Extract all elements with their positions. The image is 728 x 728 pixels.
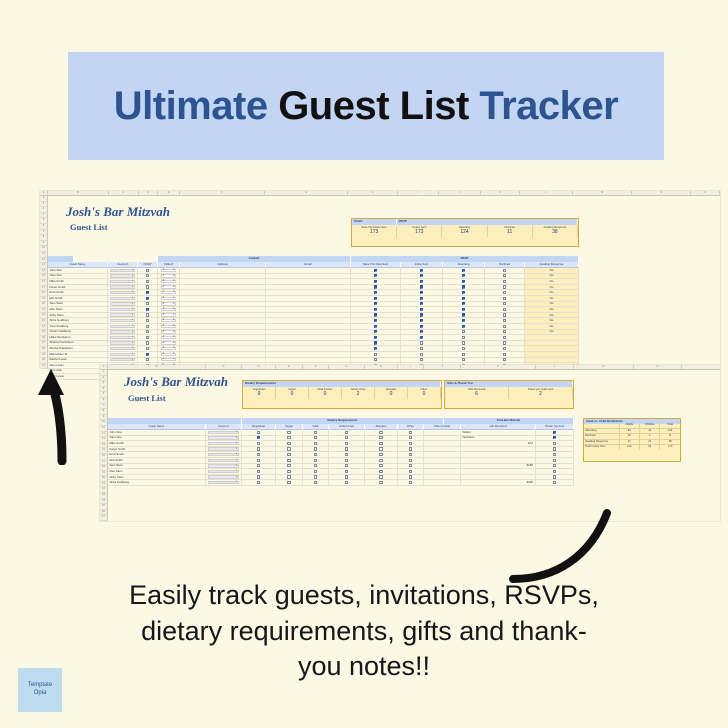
cell-allergies[interactable] [365, 458, 398, 463]
column-header-H[interactable]: H [348, 191, 397, 195]
declined-checkbox[interactable] [503, 308, 506, 311]
child-checkbox[interactable] [146, 291, 149, 294]
cell-vegan[interactable] [276, 469, 303, 474]
cell-email[interactable] [266, 307, 351, 312]
cell-child[interactable] [138, 341, 158, 346]
child-checkbox[interactable] [146, 325, 149, 328]
invite-sent-checkbox[interactable] [420, 341, 423, 344]
cell-vegetarian[interactable] [242, 480, 276, 485]
vegetarian-checkbox[interactable] [257, 447, 260, 450]
cell-table-number[interactable]: 2▾ [158, 290, 180, 295]
table-number-select[interactable]: 4▾ [161, 336, 177, 339]
cell-declined[interactable] [485, 290, 525, 295]
cell-guest-name[interactable]: Rachel Lewis [48, 358, 108, 363]
guest-of-dropdown[interactable]: ▾ [110, 285, 136, 288]
cell-invite-sent[interactable] [401, 285, 443, 290]
cell-address[interactable] [180, 307, 266, 312]
cell-gluten-free[interactable] [329, 464, 365, 469]
cell-allergies[interactable] [365, 441, 398, 446]
cell-declined[interactable] [485, 307, 525, 312]
cell-guest-of[interactable]: ▾ [108, 268, 138, 273]
declined-checkbox[interactable] [503, 297, 506, 300]
attending-checkbox[interactable] [462, 336, 465, 339]
cell-vegetarian[interactable] [242, 430, 276, 435]
cell-email[interactable] [266, 330, 351, 335]
cell-declined[interactable] [485, 296, 525, 301]
cell-vegan[interactable] [276, 436, 303, 441]
guest-of-dropdown[interactable]: ▾ [208, 481, 239, 484]
column-header-J[interactable]: J [439, 191, 480, 195]
cell-guest-name[interactable]: Jane Doe [48, 274, 108, 279]
cell-child[interactable] [138, 279, 158, 284]
guest-of-dropdown[interactable]: ▾ [208, 447, 239, 450]
cell-table-number[interactable]: 4▾ [158, 341, 180, 346]
cell-other[interactable] [398, 430, 424, 435]
cell-guest-of[interactable]: ▾ [108, 274, 138, 279]
cell-thank-you-sent[interactable] [536, 447, 574, 452]
guest-of-dropdown[interactable]: ▾ [208, 442, 239, 445]
gluten-free-checkbox[interactable] [345, 442, 348, 445]
column-header-A[interactable]: A [40, 191, 48, 195]
spreadsheet-guest-list-rsvp[interactable]: ABCDEFGHIJKLMNO 123456789101112131415161… [40, 191, 720, 367]
cell-invite-sent[interactable] [401, 296, 443, 301]
cell-thank-you-sent[interactable] [536, 464, 574, 469]
child-checkbox[interactable] [146, 297, 149, 300]
table-number-select[interactable]: 4▾ [161, 347, 177, 350]
column-header-B[interactable]: B [48, 191, 109, 195]
guest-of-dropdown[interactable]: ▾ [208, 436, 239, 439]
cell-declined[interactable] [485, 335, 525, 340]
cell-gluten-free[interactable] [329, 475, 365, 480]
cell-save-the-date-sent[interactable] [351, 318, 401, 323]
cell-other-notes[interactable] [424, 447, 461, 452]
cell-guest-name[interactable]: Max Stein [108, 469, 206, 474]
table-number-select[interactable]: 2▾ [161, 291, 177, 294]
vegetarian-checkbox[interactable] [257, 431, 260, 434]
child-checkbox[interactable] [146, 336, 149, 339]
cell-address[interactable] [180, 279, 266, 284]
cell-save-the-date-sent[interactable] [351, 274, 401, 279]
cell-table-number[interactable]: 3▾ [158, 324, 180, 329]
attending-checkbox[interactable] [462, 341, 465, 344]
cell-allergies[interactable] [365, 469, 398, 474]
cell-child[interactable] [138, 274, 158, 279]
cell-glatt[interactable] [303, 452, 329, 457]
cell-guest-of[interactable]: ▾ [108, 302, 138, 307]
cell-guest-name[interactable]: Sam Lewis [48, 363, 108, 368]
other-checkbox[interactable] [409, 459, 412, 462]
save-the-date-checkbox[interactable] [374, 347, 377, 350]
cell-gluten-free[interactable] [329, 469, 365, 474]
cell-other[interactable] [398, 475, 424, 480]
cell-guest-name[interactable]: Elle Smith [48, 296, 108, 301]
cell-attending[interactable] [443, 318, 485, 323]
cell-other[interactable] [398, 464, 424, 469]
cell-invite-sent[interactable] [401, 307, 443, 312]
cell-save-the-date-sent[interactable] [351, 296, 401, 301]
table-number-select[interactable]: 3▾ [161, 308, 177, 311]
cell-address[interactable] [180, 290, 266, 295]
child-checkbox[interactable] [146, 347, 149, 350]
cell-guest-of[interactable]: ▾ [108, 346, 138, 351]
cell-thank-you-sent[interactable] [536, 452, 574, 457]
cell-invite-sent[interactable] [401, 302, 443, 307]
cell-table-number[interactable]: 5▾ [158, 358, 180, 363]
attending-checkbox[interactable] [462, 319, 465, 322]
attending-checkbox[interactable] [462, 313, 465, 316]
column-header-M[interactable]: M [574, 365, 634, 369]
invite-sent-checkbox[interactable] [420, 302, 423, 305]
cell-thank-you-sent[interactable] [536, 480, 574, 485]
guest-of-dropdown[interactable]: ▾ [110, 280, 136, 283]
cell-guest-of[interactable]: ▾ [206, 430, 242, 435]
column-header-G[interactable]: G [265, 191, 349, 195]
vegan-checkbox[interactable] [287, 470, 290, 473]
cell-email[interactable] [266, 358, 351, 363]
cell-attending[interactable] [443, 290, 485, 295]
declined-checkbox[interactable] [503, 358, 506, 361]
cell-invite-sent[interactable] [401, 341, 443, 346]
declined-checkbox[interactable] [503, 302, 506, 305]
allergies-checkbox[interactable] [379, 464, 382, 467]
declined-checkbox[interactable] [503, 285, 506, 288]
cell-allergies[interactable] [365, 430, 398, 435]
cell-guest-name[interactable]: Elle Smith [108, 458, 206, 463]
other-checkbox[interactable] [409, 442, 412, 445]
cell-address[interactable] [180, 358, 266, 363]
vegetarian-checkbox[interactable] [257, 481, 260, 484]
cell-guest-name[interactable]: Moshe Nussbaum [48, 346, 108, 351]
cell-thank-you-sent[interactable] [536, 441, 574, 446]
child-checkbox[interactable] [146, 330, 149, 333]
child-checkbox[interactable] [146, 302, 149, 305]
cell-child[interactable] [138, 330, 158, 335]
attending-checkbox[interactable] [462, 302, 465, 305]
cell-gift-received[interactable]: $180 [461, 480, 536, 485]
cell-other-notes[interactable] [424, 458, 461, 463]
column-header-B[interactable]: B [108, 365, 206, 369]
cell-glatt[interactable] [303, 430, 329, 435]
cell-attending[interactable] [443, 296, 485, 301]
table-number-select[interactable]: 4▾ [161, 341, 177, 344]
cell-glatt[interactable] [303, 441, 329, 446]
table-number-select[interactable]: 5▾ [161, 358, 177, 361]
cell-attending[interactable] [443, 274, 485, 279]
cell-allergies[interactable] [365, 464, 398, 469]
child-checkbox[interactable] [146, 308, 149, 311]
guest-of-dropdown[interactable]: ▾ [110, 308, 136, 311]
cell-guest-name[interactable]: Max Stein [48, 307, 108, 312]
cell-gift-received[interactable]: $72 [461, 441, 536, 446]
cell-child[interactable] [138, 268, 158, 273]
cell-vegan[interactable] [276, 458, 303, 463]
column-header-J[interactable]: J [424, 365, 461, 369]
cell-gift-received[interactable]: Necklace [461, 436, 536, 441]
cell-guest-name[interactable]: Abby Stein [108, 475, 206, 480]
cell-invite-sent[interactable] [401, 324, 443, 329]
guest-of-dropdown[interactable]: ▾ [208, 431, 239, 434]
cell-invite-sent[interactable] [401, 358, 443, 363]
cell-save-the-date-sent[interactable] [351, 285, 401, 290]
cell-vegetarian[interactable] [242, 458, 276, 463]
glatt-checkbox[interactable] [314, 442, 317, 445]
cell-gift-received[interactable] [461, 458, 536, 463]
vegetarian-checkbox[interactable] [257, 464, 260, 467]
cell-invite-sent[interactable] [401, 330, 443, 335]
column-header-E[interactable]: E [158, 191, 180, 195]
cell-declined[interactable] [485, 268, 525, 273]
cell-address[interactable] [180, 324, 266, 329]
cell-attending[interactable] [443, 341, 485, 346]
invite-sent-checkbox[interactable] [420, 313, 423, 316]
cell-guest-name[interactable]: Shira Goldberg [48, 318, 108, 323]
cell-save-the-date-sent[interactable] [351, 290, 401, 295]
table-number-select[interactable]: 3▾ [161, 313, 177, 316]
cell-save-the-date-sent[interactable] [351, 358, 401, 363]
invite-sent-checkbox[interactable] [420, 347, 423, 350]
cell-invite-sent[interactable] [401, 268, 443, 273]
cell-guest-of[interactable]: ▾ [108, 307, 138, 312]
cell-vegetarian[interactable] [242, 475, 276, 480]
cell-guest-name[interactable]: Abi Lewis [48, 369, 108, 374]
cell-invite-sent[interactable] [401, 352, 443, 357]
thank-you-checkbox[interactable] [553, 459, 556, 462]
cell-guest-of[interactable]: ▾ [108, 324, 138, 329]
cell-save-the-date-sent[interactable] [351, 302, 401, 307]
cell-save-the-date-sent[interactable] [351, 324, 401, 329]
cell-declined[interactable] [485, 341, 525, 346]
cell-other[interactable] [398, 447, 424, 452]
cell-email[interactable] [266, 335, 351, 340]
cell-attending[interactable] [443, 279, 485, 284]
cell-glatt[interactable] [303, 464, 329, 469]
thank-you-checkbox[interactable] [553, 436, 556, 439]
cell-invite-sent[interactable] [401, 279, 443, 284]
save-the-date-checkbox[interactable] [374, 285, 377, 288]
cell-email[interactable] [266, 324, 351, 329]
other-checkbox[interactable] [409, 431, 412, 434]
child-checkbox[interactable] [146, 319, 149, 322]
declined-checkbox[interactable] [503, 269, 506, 272]
sheet2-data-rows[interactable]: John Doe▾SiddurJane Doe▾NecklaceMike Smi… [108, 430, 574, 486]
vegetarian-checkbox[interactable] [257, 436, 260, 439]
invite-sent-checkbox[interactable] [420, 280, 423, 283]
cell-child[interactable] [138, 290, 158, 295]
cell-address[interactable] [180, 318, 266, 323]
child-checkbox[interactable] [146, 313, 149, 316]
cell-guest-name[interactable]: Tova Goldberg [48, 324, 108, 329]
cell-declined[interactable] [485, 285, 525, 290]
invite-sent-checkbox[interactable] [420, 297, 423, 300]
gluten-free-checkbox[interactable] [345, 481, 348, 484]
cell-guest-of[interactable]: ▾ [206, 480, 242, 485]
cell-vegetarian[interactable] [242, 447, 276, 452]
cell-declined[interactable] [485, 318, 525, 323]
cell-invite-sent[interactable] [401, 335, 443, 340]
cell-guest-name[interactable]: Sam Stein [48, 302, 108, 307]
vegetarian-checkbox[interactable] [257, 459, 260, 462]
cell-gift-received[interactable] [461, 452, 536, 457]
glatt-checkbox[interactable] [314, 475, 317, 478]
save-the-date-checkbox[interactable] [374, 330, 377, 333]
thank-you-checkbox[interactable] [553, 481, 556, 484]
save-the-date-checkbox[interactable] [374, 313, 377, 316]
cell-allergies[interactable] [365, 480, 398, 485]
cell-attending[interactable] [443, 302, 485, 307]
cell-gift-received[interactable]: Siddur [461, 430, 536, 435]
sheet2-body[interactable]: Josh's Bar Mitzvah Guest List Dietary Re… [108, 370, 720, 521]
table-number-select[interactable]: 2▾ [161, 280, 177, 283]
save-the-date-checkbox[interactable] [374, 358, 377, 361]
cell-allergies[interactable] [365, 475, 398, 480]
thank-you-checkbox[interactable] [553, 464, 556, 467]
child-checkbox[interactable] [146, 269, 149, 272]
cell-gluten-free[interactable] [329, 436, 365, 441]
guest-of-dropdown[interactable]: ▾ [110, 269, 136, 272]
cell-thank-you-sent[interactable] [536, 430, 574, 435]
allergies-checkbox[interactable] [379, 436, 382, 439]
thank-you-checkbox[interactable] [553, 453, 556, 456]
sheet1-body[interactable]: Josh's Bar Mitzvah Guest List Totals RSV… [48, 196, 720, 367]
row-number[interactable]: 27 [100, 515, 108, 521]
cell-guest-name[interactable]: Karen Smith [48, 285, 108, 290]
invite-sent-checkbox[interactable] [420, 319, 423, 322]
glatt-checkbox[interactable] [314, 464, 317, 467]
cell-guest-of[interactable]: ▾ [108, 318, 138, 323]
cell-thank-you-sent[interactable] [536, 469, 574, 474]
guest-of-dropdown[interactable]: ▾ [208, 464, 239, 467]
declined-checkbox[interactable] [503, 291, 506, 294]
cell-email[interactable] [266, 268, 351, 273]
gluten-free-checkbox[interactable] [345, 447, 348, 450]
cell-child[interactable] [138, 302, 158, 307]
cell-guest-name[interactable]: Sharna Nussbaum [48, 341, 108, 346]
cell-address[interactable] [180, 352, 266, 357]
cell-child[interactable] [138, 352, 158, 357]
child-checkbox[interactable] [146, 341, 149, 344]
cell-guest-of[interactable]: ▾ [108, 358, 138, 363]
cell-table-number[interactable]: 3▾ [158, 307, 180, 312]
allergies-checkbox[interactable] [379, 442, 382, 445]
cell-guest-of[interactable]: ▾ [108, 296, 138, 301]
cell-table-number[interactable]: 1▾ [158, 274, 180, 279]
cell-guest-of[interactable]: ▾ [206, 475, 242, 480]
cell-table-number[interactable]: 2▾ [158, 279, 180, 284]
cell-child[interactable] [138, 318, 158, 323]
vegetarian-checkbox[interactable] [257, 453, 260, 456]
attending-checkbox[interactable] [462, 285, 465, 288]
cell-gift-received[interactable] [461, 475, 536, 480]
cell-vegetarian[interactable] [242, 464, 276, 469]
column-header-G[interactable]: G [329, 365, 365, 369]
cell-attending[interactable] [443, 268, 485, 273]
cell-other-notes[interactable] [424, 464, 461, 469]
table-number-select[interactable]: 2▾ [161, 297, 177, 300]
vegan-checkbox[interactable] [287, 447, 290, 450]
cell-table-number[interactable]: 4▾ [158, 335, 180, 340]
cell-declined[interactable] [485, 313, 525, 318]
cell-email[interactable] [266, 313, 351, 318]
cell-glatt[interactable] [303, 447, 329, 452]
cell-address[interactable] [180, 330, 266, 335]
declined-checkbox[interactable] [503, 319, 506, 322]
cell-other-notes[interactable] [424, 436, 461, 441]
cell-declined[interactable] [485, 330, 525, 335]
cell-gluten-free[interactable] [329, 430, 365, 435]
cell-other-notes[interactable] [424, 469, 461, 474]
declined-checkbox[interactable] [503, 353, 506, 356]
guest-of-dropdown[interactable]: ▾ [110, 325, 136, 328]
cell-table-number[interactable]: 1▾ [158, 268, 180, 273]
column-header-L[interactable]: L [536, 365, 574, 369]
invite-sent-checkbox[interactable] [420, 330, 423, 333]
cell-glatt[interactable] [303, 480, 329, 485]
cell-other-notes[interactable] [424, 441, 461, 446]
invite-sent-checkbox[interactable] [420, 336, 423, 339]
cell-child[interactable] [138, 358, 158, 363]
cell-child[interactable] [138, 285, 158, 290]
cell-guest-of[interactable]: ▾ [108, 341, 138, 346]
cell-guest-name[interactable]: Hillel Nussbaum [48, 335, 108, 340]
attending-checkbox[interactable] [462, 274, 465, 277]
column-header-K[interactable]: K [481, 191, 520, 195]
column-header-I[interactable]: I [398, 365, 424, 369]
gluten-free-checkbox[interactable] [345, 470, 348, 473]
allergies-checkbox[interactable] [379, 447, 382, 450]
guest-of-dropdown[interactable]: ▾ [208, 475, 239, 478]
allergies-checkbox[interactable] [379, 475, 382, 478]
cell-address[interactable] [180, 302, 266, 307]
cell-email[interactable] [266, 302, 351, 307]
other-checkbox[interactable] [409, 481, 412, 484]
cell-vegan[interactable] [276, 447, 303, 452]
cell-other[interactable] [398, 469, 424, 474]
glatt-checkbox[interactable] [314, 453, 317, 456]
cell-vegan[interactable] [276, 441, 303, 446]
cell-vegan[interactable] [276, 452, 303, 457]
column-header-D[interactable]: D [242, 365, 276, 369]
cell-guest-of[interactable]: ▾ [108, 313, 138, 318]
cell-glatt[interactable] [303, 436, 329, 441]
cell-invite-sent[interactable] [401, 274, 443, 279]
gluten-free-checkbox[interactable] [345, 464, 348, 467]
save-the-date-checkbox[interactable] [374, 353, 377, 356]
invite-sent-checkbox[interactable] [420, 285, 423, 288]
cell-email[interactable] [266, 274, 351, 279]
cell-other-notes[interactable] [424, 480, 461, 485]
other-checkbox[interactable] [409, 475, 412, 478]
invite-sent-checkbox[interactable] [420, 353, 423, 356]
cell-guest-of[interactable]: ▾ [206, 469, 242, 474]
cell-other-notes[interactable] [424, 430, 461, 435]
cell-table-number[interactable]: 4▾ [158, 352, 180, 357]
save-the-date-checkbox[interactable] [374, 302, 377, 305]
spreadsheet-dietary-gifts[interactable]: ABCDEFGHIJKLMN 1234567891011121314151617… [100, 365, 720, 521]
cell-table-number[interactable]: 4▾ [158, 346, 180, 351]
glatt-checkbox[interactable] [314, 436, 317, 439]
gluten-free-checkbox[interactable] [345, 475, 348, 478]
cell-attending[interactable] [443, 346, 485, 351]
attending-checkbox[interactable] [462, 291, 465, 294]
other-checkbox[interactable] [409, 447, 412, 450]
cell-guest-name[interactable]: Mike Smith [48, 279, 108, 284]
cell-declined[interactable] [485, 279, 525, 284]
invite-sent-checkbox[interactable] [420, 325, 423, 328]
cell-attending[interactable] [443, 335, 485, 340]
cell-guest-of[interactable]: ▾ [206, 452, 242, 457]
cell-guest-name[interactable]: Ezra Smith [108, 452, 206, 457]
cell-attending[interactable] [443, 352, 485, 357]
